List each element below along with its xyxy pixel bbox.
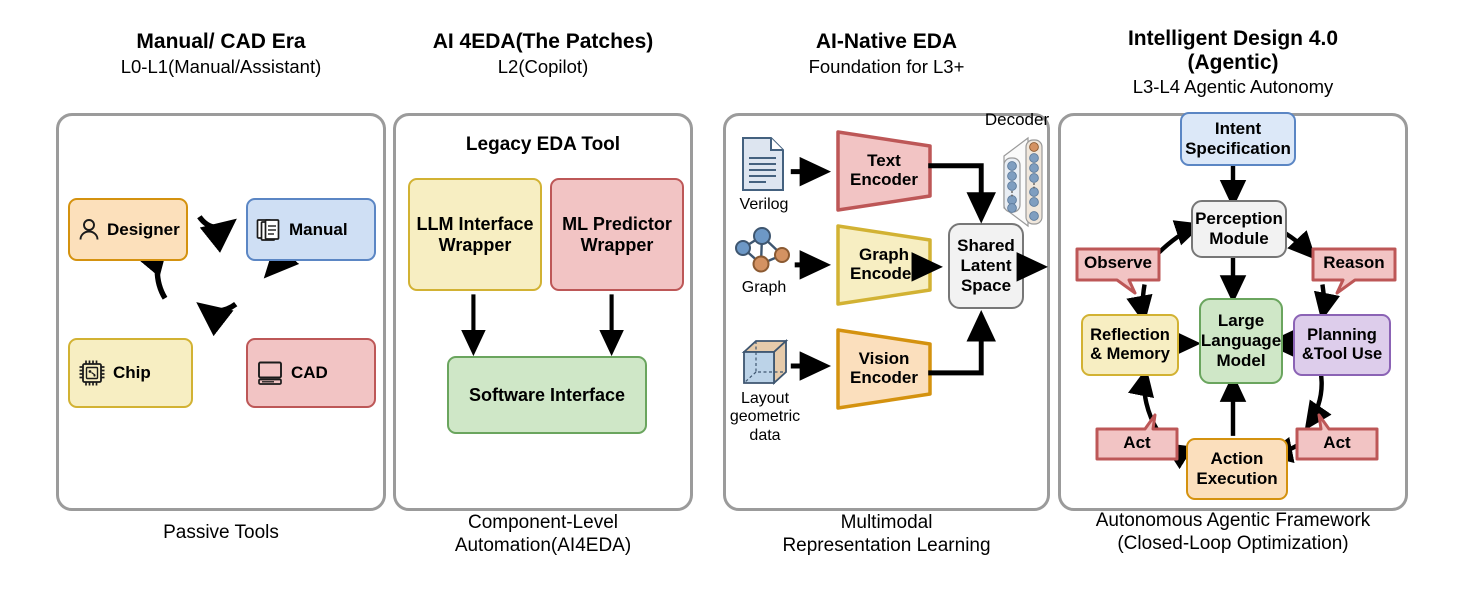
panel-ai-native-eda: AI-Native EDA Foundation for L3+ Verilog xyxy=(723,0,1050,614)
node-llm-interface-wrapper[interactable]: LLM Interface Wrapper xyxy=(408,178,542,291)
bubble-act-right[interactable]: Act xyxy=(1293,412,1381,462)
node-perception-module[interactable]: Perception Module xyxy=(1191,200,1287,258)
node-large-language-model[interactable]: Large Language Model xyxy=(1199,298,1283,384)
bubble-act-right-label: Act xyxy=(1293,426,1381,460)
node-designer[interactable]: Designer xyxy=(68,198,188,261)
panel-2-header: AI 4EDA(The Patches) L2(Copilot) xyxy=(393,30,693,77)
monitor-icon xyxy=(256,340,284,405)
node-ml-predictor-wrapper[interactable]: ML Predictor Wrapper xyxy=(550,178,684,291)
encoder-text[interactable]: Text Encoder xyxy=(836,130,932,212)
encoder-graph[interactable]: Graph Encoder xyxy=(836,224,932,306)
node-planning-tool-use[interactable]: Planning &Tool Use xyxy=(1293,314,1391,376)
panel-2-arrows xyxy=(396,116,690,508)
documents-icon xyxy=(256,197,282,262)
panel-intelligent-design: Intelligent Design 4.0 (Agentic) L3-L4 A… xyxy=(1058,0,1408,614)
node-chip-label: Chip xyxy=(113,363,151,383)
encoder-text-label: Text Encoder xyxy=(836,130,932,212)
node-reflection-memory[interactable]: Reflection & Memory xyxy=(1081,314,1179,376)
panel-1-subtitle: L0-L1(Manual/Assistant) xyxy=(56,56,386,77)
decoder-label: Decoder xyxy=(980,110,1054,130)
panel-2-caption: Component-Level Automation(AI4EDA) xyxy=(393,512,693,558)
document-icon xyxy=(740,136,786,192)
legacy-eda-tool-heading: Legacy EDA Tool xyxy=(396,134,690,156)
person-icon xyxy=(78,198,100,261)
chip-icon xyxy=(78,339,106,406)
panel-2-subtitle: L2(Copilot) xyxy=(393,56,693,77)
bubble-act-left-label: Act xyxy=(1093,426,1181,460)
layout-input-label: Layout geometric data xyxy=(722,390,808,445)
node-cad[interactable]: CAD xyxy=(246,338,376,408)
encoder-vision-label: Vision Encoder xyxy=(836,328,932,410)
decoder-icon xyxy=(998,134,1054,230)
panel-4-frame: Intent Specification Perception Module L… xyxy=(1058,113,1408,511)
cube-icon xyxy=(740,338,790,388)
node-manual-label: Manual xyxy=(289,220,348,240)
panel-1-header: Manual/ CAD Era L0-L1(Manual/Assistant) xyxy=(56,30,386,77)
node-cad-label: CAD xyxy=(291,363,328,383)
node-designer-label: Designer xyxy=(107,220,180,240)
bubble-observe[interactable]: Observe xyxy=(1073,246,1163,296)
panel-1-cycle-arrows xyxy=(59,116,383,508)
panel-ai-4eda: AI 4EDA(The Patches) L2(Copilot) Legacy … xyxy=(393,0,693,614)
node-chip[interactable]: Chip xyxy=(68,338,193,408)
panel-4-caption: Autonomous Agentic Framework (Closed-Loo… xyxy=(1058,510,1408,556)
bubble-reason-label: Reason xyxy=(1309,246,1399,280)
panel-4-header: Intelligent Design 4.0 (Agentic) L3-L4 A… xyxy=(1058,27,1408,97)
panel-1-caption: Passive Tools xyxy=(56,522,386,545)
panel-4-title: Intelligent Design 4.0 (Agentic) xyxy=(1058,27,1408,74)
panel-3-title: AI-Native EDA xyxy=(723,30,1050,54)
encoder-vision[interactable]: Vision Encoder xyxy=(836,328,932,410)
panel-3-subtitle: Foundation for L3+ xyxy=(723,56,1050,77)
bubble-reason[interactable]: Reason xyxy=(1309,246,1399,296)
panel-1-title: Manual/ CAD Era xyxy=(56,30,386,54)
panel-2-frame: Legacy EDA Tool LLM Interface Wrapper ML… xyxy=(393,113,693,511)
node-action-execution[interactable]: Action Execution xyxy=(1186,438,1288,500)
bubble-act-left[interactable]: Act xyxy=(1093,412,1181,462)
panel-4-subtitle: L3-L4 Agentic Autonomy xyxy=(1058,76,1408,97)
panel-1-frame: Designer Manual Chip CAD xyxy=(56,113,386,511)
panel-manual-cad-era: Manual/ CAD Era L0-L1(Manual/Assistant) … xyxy=(56,0,386,614)
panel-3-caption: Multimodal Representation Learning xyxy=(723,512,1050,558)
diagram-canvas: Manual/ CAD Era L0-L1(Manual/Assistant) … xyxy=(0,0,1459,614)
panel-2-title: AI 4EDA(The Patches) xyxy=(393,30,693,54)
verilog-input-label: Verilog xyxy=(728,196,800,214)
encoder-graph-label: Graph Encoder xyxy=(836,224,932,306)
graph-icon xyxy=(734,226,792,276)
graph-input-label: Graph xyxy=(728,279,800,297)
panel-3-header: AI-Native EDA Foundation for L3+ xyxy=(723,30,1050,77)
node-shared-latent-space[interactable]: Shared Latent Space xyxy=(948,223,1024,309)
node-software-interface[interactable]: Software Interface xyxy=(447,356,647,434)
node-intent-specification[interactable]: Intent Specification xyxy=(1180,112,1296,166)
panel-3-frame: Verilog Graph xyxy=(723,113,1050,511)
bubble-observe-label: Observe xyxy=(1073,246,1163,280)
node-manual[interactable]: Manual xyxy=(246,198,376,261)
